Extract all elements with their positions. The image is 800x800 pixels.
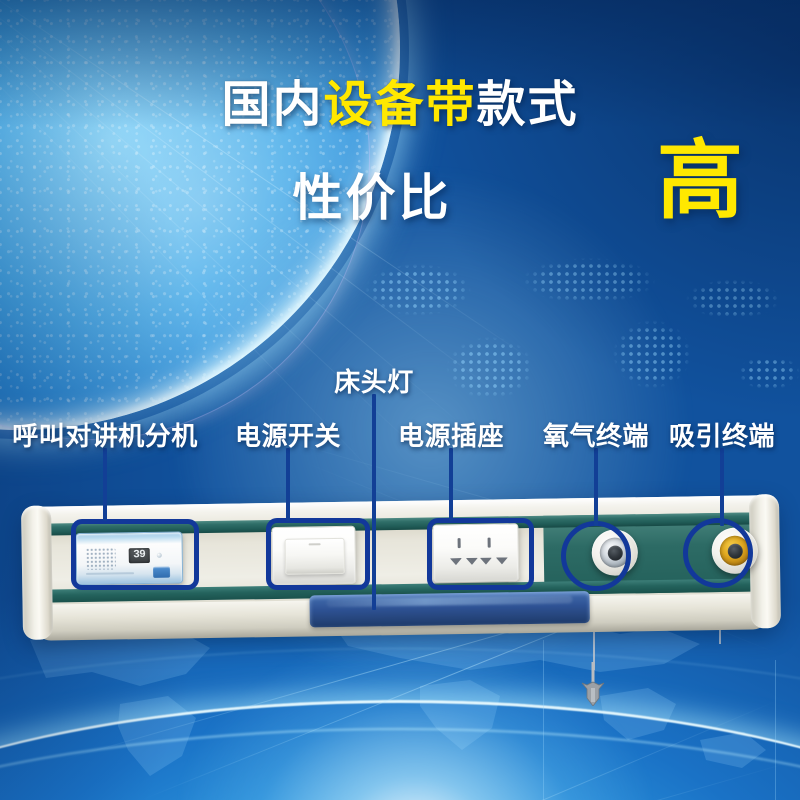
callout-label-suction-terminal: 吸引终端 <box>669 416 775 453</box>
callout-label-power-socket: 电源插座 <box>398 416 504 453</box>
callout-label-bed-reading-light: 床头灯 <box>334 362 414 399</box>
callout-label-power-switch: 电源开关 <box>235 416 341 453</box>
callout-label-oxygen-terminal: 氧气终端 <box>543 416 649 453</box>
callout-label-nurse-call-intercom: 呼叫对讲机分机 <box>12 416 198 453</box>
product-banner: 国内设备带款式 性价比 高 呼叫对讲机分机 电源开关 床头灯 电源插座 氧气终端… <box>0 0 800 800</box>
callout-label-group: 呼叫对讲机分机 电源开关 床头灯 电源插座 氧气终端 吸引终端 <box>0 0 800 800</box>
